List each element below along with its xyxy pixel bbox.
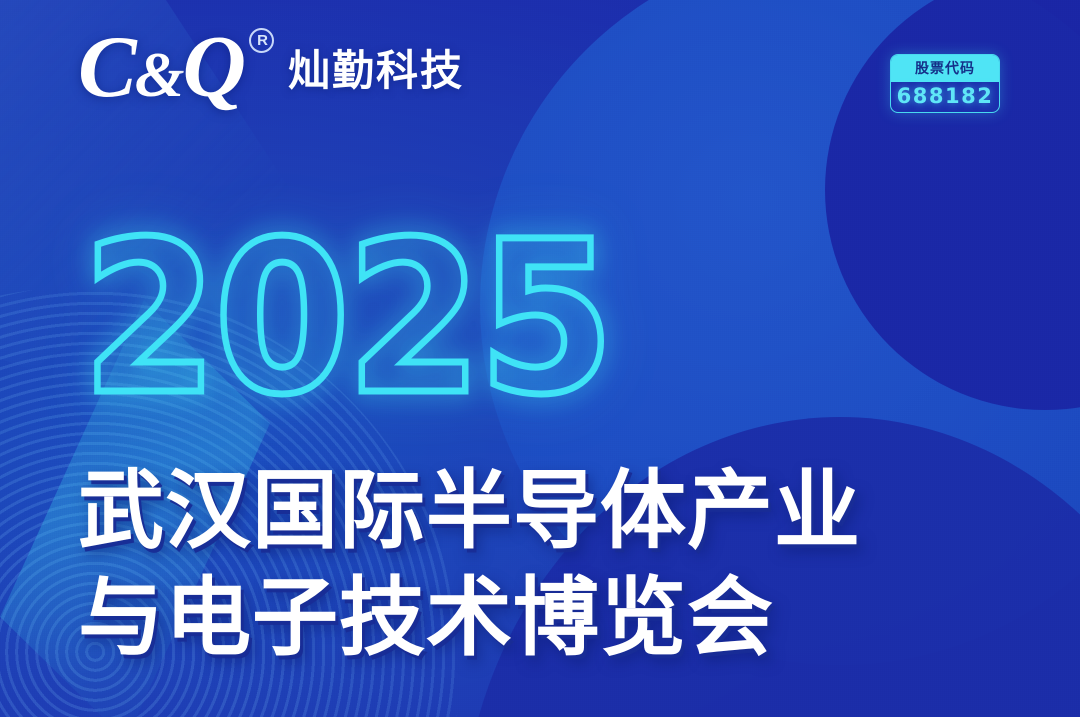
stock-code-label: 股票代码 xyxy=(891,55,999,82)
stock-code-badge: 股票代码 688182 xyxy=(890,54,1000,113)
stock-code-number: 688182 xyxy=(891,82,999,112)
year-heading: 2025 xyxy=(82,214,611,424)
logo-wordmark: C&QR xyxy=(78,26,250,110)
logo-letter-q: Q xyxy=(182,19,244,116)
registered-trademark-icon: R xyxy=(249,28,274,53)
logo-letter-c: C xyxy=(78,19,135,116)
event-title: 武汉国际半导体产业 与电子技术博览会 xyxy=(78,458,861,671)
event-title-line-1: 武汉国际半导体产业 xyxy=(78,458,861,565)
event-title-line-2: 与电子技术博览会 xyxy=(78,565,861,672)
company-name-chinese: 灿勤科技 xyxy=(288,37,464,98)
brand-logo[interactable]: C&QR 灿勤科技 xyxy=(78,26,464,110)
promo-poster: C&QR 灿勤科技 股票代码 688182 2025 武汉国际半导体产业 与电子… xyxy=(0,0,1080,717)
logo-ampersand: & xyxy=(135,39,183,110)
